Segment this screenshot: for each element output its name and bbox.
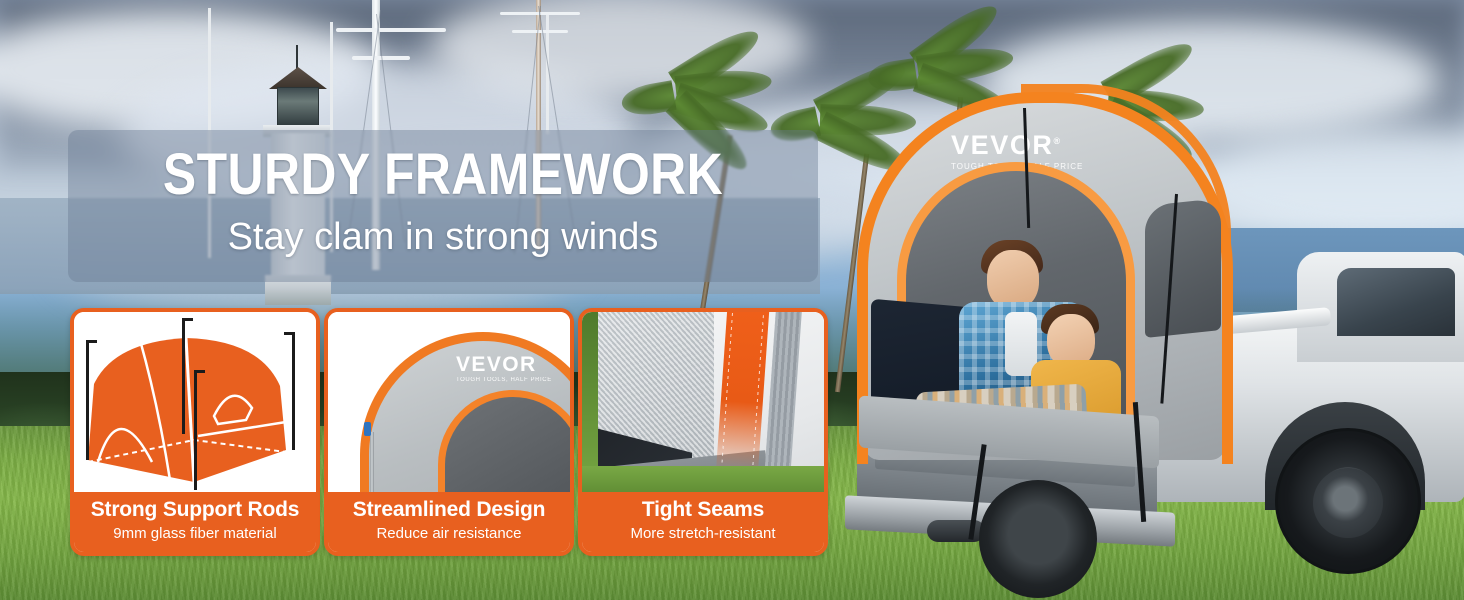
feature-card-strong-support-rods[interactable]: Strong Support Rods 9mm glass fiber mate… [70,308,320,556]
tent-blue-tab [364,422,371,436]
brand-name-text: VEVOR [951,130,1054,160]
support-rod-marker [182,318,185,434]
page-title: STURDY FRAMEWORK [121,146,766,204]
truck-cab-window [1337,268,1455,336]
card-label-bar: Streamlined Design Reduce air resistance [328,492,570,552]
card-label-bar: Tight Seams More stretch-resistant [582,492,824,552]
card-subtitle: Reduce air resistance [332,524,566,544]
brand-registered-mark: ® [1054,136,1062,146]
seam-photo-grass-bottom [582,466,824,492]
card-media-seam-closeup [582,312,824,492]
card-title: Strong Support Rods [78,498,312,522]
card-title: Tight Seams [586,498,820,522]
card-label-bar: Strong Support Rods 9mm glass fiber mate… [74,492,316,552]
product-marketing-banner: FX4 SERIES 4WD VEVOR® TOUGH TOOLS, HALF … [0,0,1464,600]
truck-bed-tent: VEVOR® TOUGH TOOLS, HALF PRICE [845,72,1245,464]
brand-wordmark: VEVOR [456,354,552,375]
truck-front-tire [979,480,1097,598]
lighthouse-lantern-room [277,87,319,127]
radar-crossbar [336,28,446,32]
support-rod-marker [292,332,295,450]
feature-card-streamlined-design[interactable]: VEVOR TOUGH TOOLS, HALF PRICE Streamline… [324,308,574,556]
mast-crossbar [512,30,568,33]
feature-card-list: Strong Support Rods 9mm glass fiber mate… [70,308,828,556]
card-subtitle: 9mm glass fiber material [78,524,312,544]
truck-wheel-rim [1313,468,1383,538]
tent-side-window [1145,198,1221,338]
tent-pole [370,432,374,492]
seam-closeup-photo [582,312,824,492]
support-rod-marker [194,370,197,490]
tent-rods-diagram [74,312,316,492]
card-media-tent-closeup: VEVOR TOUGH TOOLS, HALF PRICE [328,312,570,492]
brand-wordmark: VEVOR® [951,132,1083,159]
support-rod-marker [86,340,89,460]
seam-photo-grass-left [582,312,598,492]
card-media-tent-diagram [74,312,316,492]
headline-overlay-panel: STURDY FRAMEWORK Stay clam in strong win… [68,130,818,282]
page-subtitle: Stay clam in strong winds [68,218,818,256]
card-subtitle: More stretch-resistant [586,524,820,544]
lighthouse-spire [296,45,298,71]
tent-brand-logo-small: VEVOR TOUGH TOOLS, HALF PRICE [456,354,552,383]
lighthouse-roof [269,67,327,89]
tent-closeup-photo: VEVOR TOUGH TOOLS, HALF PRICE [328,312,570,492]
truck-exhaust-pipe [927,520,985,542]
card-title: Streamlined Design [332,498,566,522]
feature-card-tight-seams[interactable]: Tight Seams More stretch-resistant [578,308,828,556]
truck-tent-product-photo: FX4 SERIES 4WD VEVOR® TOUGH TOOLS, HALF … [845,72,1464,600]
brand-tagline: TOUGH TOOLS, HALF PRICE [456,377,552,383]
